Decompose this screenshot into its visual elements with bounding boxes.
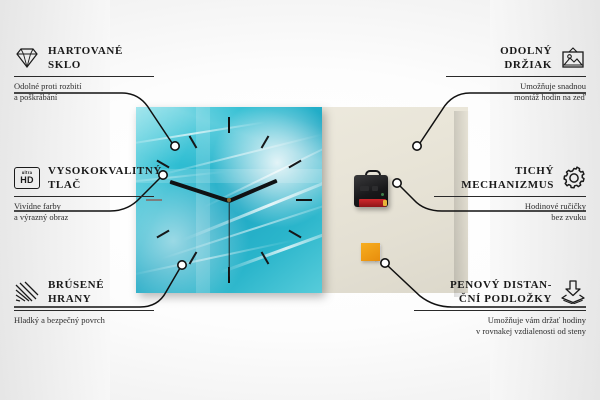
clock-movement-mechanism — [352, 169, 390, 209]
feature-description: Umožňuje vám držať hodiny v rovnakej vzd… — [414, 315, 586, 337]
feature-title: BRÚSENÉ HRANY — [48, 278, 104, 306]
feature-divider — [446, 76, 586, 77]
feature-divider — [14, 196, 154, 197]
stack-arrow-down-icon — [560, 280, 586, 304]
feature-title-line1: PENOVÝ DISTAN- — [450, 278, 552, 292]
feature-title-line2: MECHANIZMUS — [461, 178, 554, 192]
feature-title-line1: HARTOVANÉ — [48, 44, 123, 58]
feature-title-line2: HRANY — [48, 292, 104, 306]
product-infographic: HARTOVANÉ SKLO Odolné proti rozbití a po… — [0, 0, 600, 400]
feature-desc-line2: a poškrábání — [14, 92, 154, 103]
feature-durable-hanger: ODOLNÝ DRŽIAK Umožňuje snadnou montáž ho… — [446, 44, 586, 103]
feature-desc-line2: v rovnakej vzdialenosti od steny — [414, 326, 586, 337]
feature-ground-edges: BRÚSENÉ HRANY Hladký a bezpečný povrch — [14, 278, 154, 326]
feature-desc-line1: Odolné proti rozbití — [14, 81, 154, 92]
feature-title-line1: BRÚSENÉ — [48, 278, 104, 292]
diamond-icon — [14, 47, 40, 69]
clock-glass-reflection-v — [196, 107, 210, 293]
feature-title: TICHÝ MECHANIZMUS — [461, 164, 554, 192]
feature-divider — [434, 196, 586, 197]
feature-desc-line1: Hodinové ručičky — [434, 201, 586, 212]
feature-desc-line2: montáž hodin na zeď — [446, 92, 586, 103]
picture-hanger-icon — [560, 47, 586, 69]
feature-tempered-glass: HARTOVANÉ SKLO Odolné proti rozbití a po… — [14, 44, 154, 103]
feature-title: VYSOKOKVALITNÝ TLAČ — [48, 164, 162, 192]
feature-divider — [14, 310, 154, 311]
feature-heading: HARTOVANÉ SKLO — [14, 44, 154, 72]
clock-glass-reflection-h — [136, 169, 322, 183]
feature-desc-line2: a výrazný obraz — [14, 212, 154, 223]
gear-icon — [562, 166, 586, 190]
badge-large-label: HD — [20, 176, 33, 185]
mechanism-battery — [359, 199, 386, 207]
mechanism-detail-1 — [360, 186, 369, 191]
clock-center-pivot — [227, 198, 231, 202]
mechanism-body — [354, 175, 388, 207]
feature-title-line2: SKLO — [48, 58, 123, 72]
clock-second-hand — [228, 201, 229, 277]
feature-divider — [414, 310, 586, 311]
feature-title-line2: TLAČ — [48, 178, 162, 192]
feature-description: Hodinové ručičky bez zvuku — [434, 201, 586, 223]
feature-heading: TICHÝ MECHANIZMUS — [434, 164, 586, 192]
feature-title-line2: ČNÍ PODLOŽKY — [450, 292, 552, 306]
feature-heading: ODOLNÝ DRŽIAK — [446, 44, 586, 72]
foam-spacer-pad — [361, 243, 380, 261]
feature-title: HARTOVANÉ SKLO — [48, 44, 123, 72]
feature-foam-spacers: PENOVÝ DISTAN- ČNÍ PODLOŽKY Umožňuje vám… — [414, 278, 586, 337]
feature-description: Odolné proti rozbití a poškrábání — [14, 81, 154, 103]
feature-desc-line2: bez zvuku — [434, 212, 586, 223]
foam-pad-top — [361, 243, 380, 261]
feature-desc-line1: Umožňuje snadnou — [446, 81, 586, 92]
ultra-hd-badge-icon: ultra HD — [14, 167, 40, 189]
feature-divider — [14, 76, 154, 77]
ground-edges-icon — [14, 281, 40, 303]
feature-silent-mechanism: TICHÝ MECHANIZMUS Hodinové ručičky bez z… — [434, 164, 586, 223]
feature-title-line1: TICHÝ — [461, 164, 554, 178]
feature-description: Umožňuje snadnou montáž hodin na zeď — [446, 81, 586, 103]
mechanism-detail-2 — [372, 186, 378, 191]
feature-desc-line1: Umožňuje vám držať hodiny — [414, 315, 586, 326]
product-photo — [136, 107, 468, 293]
feature-title-line1: VYSOKOKVALITNÝ — [48, 164, 162, 178]
feature-heading: ultra HD VYSOKOKVALITNÝ TLAČ — [14, 164, 154, 192]
feature-description: Hladký a bezpečný povrch — [14, 315, 154, 326]
feature-title: ODOLNÝ DRŽIAK — [500, 44, 552, 72]
feature-title-line1: ODOLNÝ — [500, 44, 552, 58]
feature-desc-line1: Vivídne farby — [14, 201, 154, 212]
feature-description: Vivídne farby a výrazný obraz — [14, 201, 154, 223]
mechanism-detail-3 — [381, 193, 384, 196]
wall-clock-face — [136, 107, 322, 293]
feature-title-line2: DRŽIAK — [500, 58, 552, 72]
feature-heading: PENOVÝ DISTAN- ČNÍ PODLOŽKY — [414, 278, 586, 306]
feature-desc-line1: Hladký a bezpečný povrch — [14, 315, 154, 326]
feature-heading: BRÚSENÉ HRANY — [14, 278, 154, 306]
feature-hd-print: ultra HD VYSOKOKVALITNÝ TLAČ Vivídne far… — [14, 164, 154, 223]
feature-title: PENOVÝ DISTAN- ČNÍ PODLOŽKY — [450, 278, 552, 306]
